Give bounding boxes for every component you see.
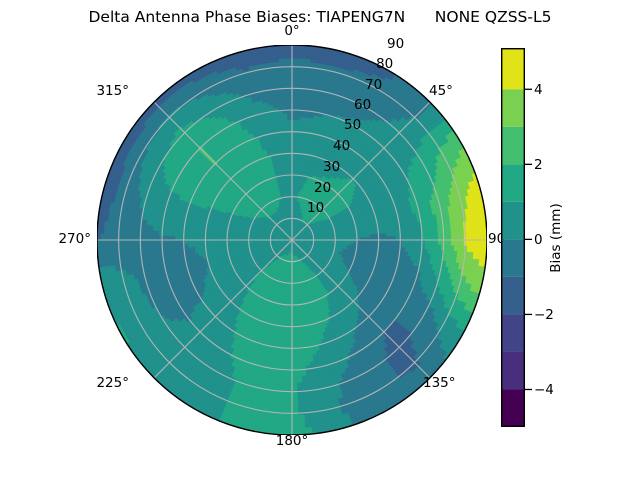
theta-label-315: 315°: [96, 83, 129, 99]
radial-label-60: 60: [354, 97, 371, 113]
colorbar-tick-label-4: 4: [534, 82, 543, 98]
colorbar-tick-label-0: 0: [534, 232, 543, 248]
figure-canvas: Delta Antenna Phase Biases: TIAPENG7N NO…: [0, 0, 640, 480]
radial-label-10: 10: [307, 200, 324, 216]
colorbar-tick-label-2: 2: [534, 157, 543, 173]
radial-label-70: 70: [365, 77, 382, 93]
radial-label-90: 90: [387, 36, 404, 52]
radial-label-80: 80: [376, 56, 393, 72]
polar-plot-axes: 0° 45° 90° 135° 180° 225° 270° 315° 10 2…: [97, 45, 487, 435]
colorbar-axis-label: Bias (mm): [548, 203, 564, 272]
colorbar-tick-label-neg4: −4: [534, 382, 554, 398]
theta-label-45: 45°: [429, 83, 453, 99]
theta-label-225: 225°: [96, 375, 129, 391]
colorbar[interactable]: [501, 48, 525, 427]
theta-label-135: 135°: [423, 375, 456, 391]
radial-label-20: 20: [314, 180, 331, 196]
theta-label-180: 180°: [276, 433, 309, 449]
theta-label-0: 0°: [284, 23, 299, 39]
radial-label-50: 50: [344, 117, 361, 133]
radial-label-30: 30: [323, 159, 340, 175]
theta-label-270: 270°: [58, 231, 91, 247]
page-title: Delta Antenna Phase Biases: TIAPENG7N NO…: [0, 8, 640, 26]
colorbar-tick-label-neg2: −2: [534, 307, 554, 323]
colorbar-gradient: [501, 48, 525, 427]
radial-label-40: 40: [333, 138, 350, 154]
